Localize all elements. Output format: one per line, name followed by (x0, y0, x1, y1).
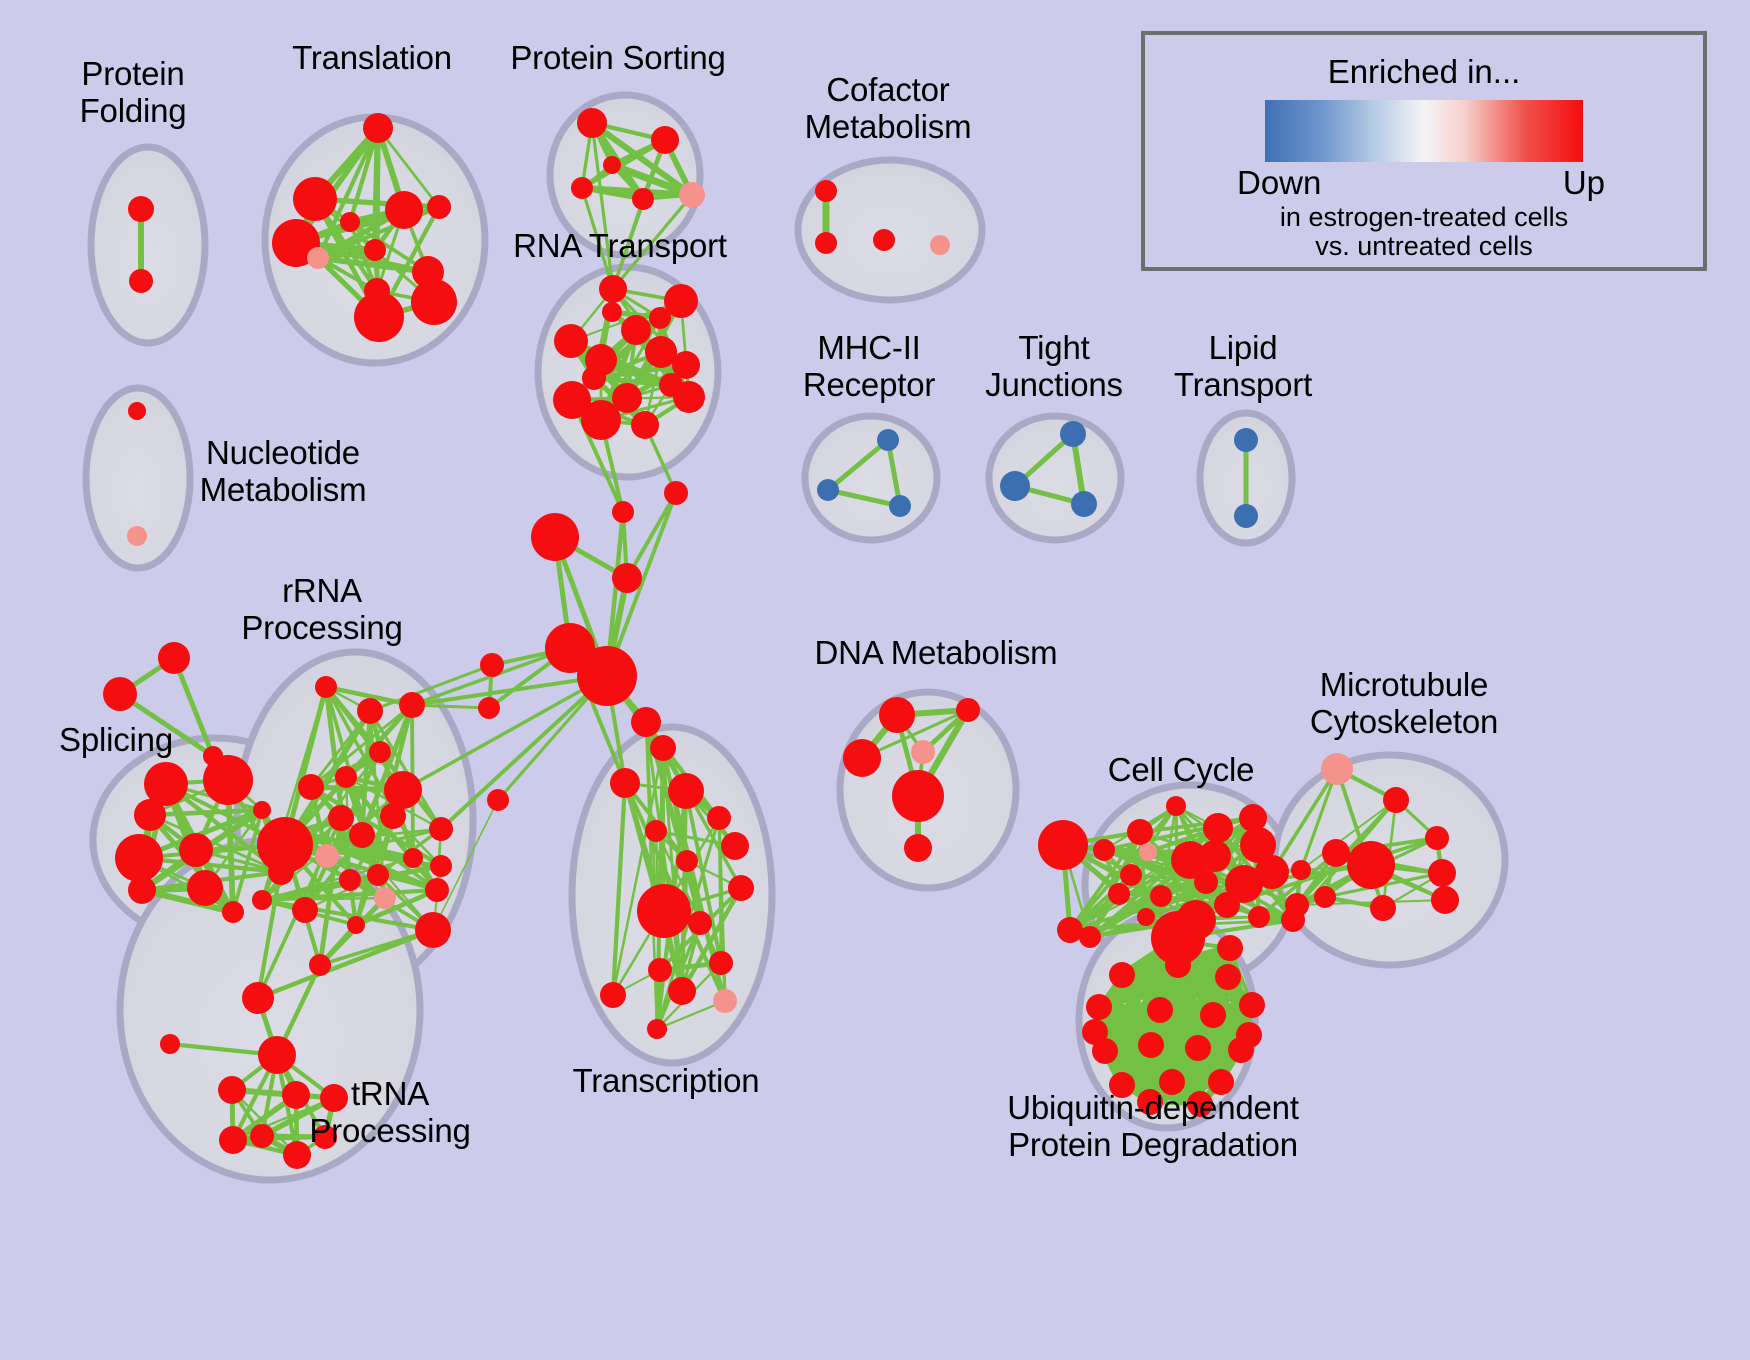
network-node[interactable] (930, 235, 950, 255)
network-node[interactable] (1428, 859, 1456, 887)
network-node[interactable] (257, 817, 313, 873)
network-node[interactable] (369, 741, 391, 763)
network-node[interactable] (1127, 819, 1153, 845)
network-node[interactable] (707, 806, 731, 830)
network-node[interactable] (347, 916, 365, 934)
network-node[interactable] (631, 411, 659, 439)
network-node[interactable] (873, 229, 895, 251)
network-node[interactable] (1185, 1035, 1211, 1061)
network-node[interactable] (1038, 820, 1088, 870)
network-node[interactable] (1000, 471, 1030, 501)
network-node[interactable] (363, 113, 393, 143)
network-node[interactable] (307, 247, 329, 269)
network-node[interactable] (612, 501, 634, 523)
network-node[interactable] (632, 188, 654, 210)
cluster-label-cofactor-metabolism: Cofactor Metabolism (805, 72, 972, 146)
network-node[interactable] (478, 697, 500, 719)
network-node[interactable] (1147, 997, 1173, 1023)
legend-end-labels: Down Up (1239, 162, 1609, 204)
network-node[interactable] (115, 834, 163, 882)
network-node[interactable] (904, 834, 932, 862)
network-node[interactable] (650, 735, 676, 761)
network-node[interactable] (293, 177, 337, 221)
network-node[interactable] (679, 182, 705, 208)
legend-box: Enriched in... Down Up in estrogen-treat… (1141, 31, 1707, 271)
network-node[interactable] (688, 911, 712, 935)
network-node[interactable] (380, 803, 406, 829)
network-node[interactable] (1370, 895, 1396, 921)
network-node[interactable] (128, 196, 154, 222)
network-node[interactable] (367, 864, 389, 886)
network-node[interactable] (1214, 892, 1240, 918)
network-node[interactable] (357, 698, 383, 724)
network-node[interactable] (1236, 1022, 1262, 1048)
network-node[interactable] (1234, 504, 1258, 528)
network-node[interactable] (349, 822, 375, 848)
network-node[interactable] (203, 755, 253, 805)
network-node[interactable] (1383, 787, 1409, 813)
network-node[interactable] (554, 324, 588, 358)
network-node[interactable] (328, 805, 354, 831)
network-node[interactable] (728, 875, 754, 901)
network-node[interactable] (1071, 491, 1097, 517)
network-node[interactable] (158, 642, 190, 674)
network-node[interactable] (480, 653, 504, 677)
network-figure: Protein FoldingTranslationProtein Sortin… (0, 0, 1750, 1360)
network-node[interactable] (298, 774, 324, 800)
network-node[interactable] (411, 279, 457, 325)
network-node[interactable] (253, 801, 271, 819)
network-node[interactable] (843, 739, 881, 777)
network-node[interactable] (1215, 964, 1241, 990)
network-node[interactable] (1159, 927, 1185, 953)
network-node[interactable] (1086, 994, 1112, 1020)
network-node[interactable] (879, 697, 915, 733)
cluster-label-cell-cycle: Cell Cycle (1108, 752, 1255, 789)
network-node[interactable] (258, 1036, 296, 1074)
cluster-label-protein-sorting: Protein Sorting (510, 40, 725, 77)
network-node[interactable] (1109, 962, 1135, 988)
network-node[interactable] (1199, 840, 1231, 872)
network-node[interactable] (222, 901, 244, 923)
network-node[interactable] (250, 1124, 274, 1148)
network-node[interactable] (335, 766, 357, 788)
network-node[interactable] (877, 429, 899, 451)
network-node[interactable] (339, 869, 361, 891)
cluster-label-nucleotide-metabolism: Nucleotide Metabolism (200, 435, 367, 509)
network-node[interactable] (815, 180, 837, 202)
network-node[interactable] (1217, 935, 1243, 961)
network-node[interactable] (612, 563, 642, 593)
network-node[interactable] (1285, 893, 1309, 917)
cluster-label-mhc-ii-receptor: MHC-II Receptor (803, 330, 935, 404)
network-node[interactable] (309, 954, 331, 976)
network-node[interactable] (134, 799, 166, 831)
network-node[interactable] (187, 870, 223, 906)
network-node[interactable] (385, 191, 423, 229)
network-node[interactable] (384, 771, 422, 809)
legend-color-bar (1265, 100, 1583, 162)
network-node[interactable] (1314, 886, 1336, 908)
network-node[interactable] (1150, 885, 1172, 907)
network-node[interactable] (430, 855, 452, 877)
network-node[interactable] (1138, 1032, 1164, 1058)
network-node[interactable] (577, 646, 637, 706)
legend-title: Enriched in... (1145, 53, 1703, 91)
network-node[interactable] (427, 195, 451, 219)
network-node[interactable] (1425, 826, 1449, 850)
network-node[interactable] (651, 126, 679, 154)
network-node[interactable] (637, 884, 691, 938)
network-node[interactable] (664, 481, 688, 505)
cluster-label-splicing: Splicing (59, 722, 173, 759)
network-node[interactable] (668, 977, 696, 1005)
network-node[interactable] (1108, 883, 1130, 905)
network-node[interactable] (242, 982, 274, 1014)
network-node[interactable] (403, 848, 423, 868)
network-node[interactable] (600, 982, 626, 1008)
cluster-label-rna-transport: RNA Transport (513, 228, 727, 265)
network-node[interactable] (1082, 1019, 1108, 1045)
network-node[interactable] (721, 832, 749, 860)
network-node[interactable] (1060, 421, 1086, 447)
network-node[interactable] (415, 912, 451, 948)
network-node[interactable] (817, 479, 839, 501)
network-node[interactable] (1120, 864, 1142, 886)
legend-up-label: Up (1563, 164, 1605, 202)
network-node[interactable] (1239, 992, 1265, 1018)
network-node[interactable] (292, 897, 318, 923)
network-node[interactable] (709, 951, 733, 975)
network-node[interactable] (571, 177, 593, 199)
network-node[interactable] (531, 513, 579, 561)
network-node[interactable] (129, 269, 153, 293)
cluster-label-lipid-transport: Lipid Transport (1174, 330, 1312, 404)
network-node[interactable] (1165, 952, 1191, 978)
network-node[interactable] (179, 833, 213, 867)
network-node[interactable] (621, 315, 651, 345)
network-node[interactable] (602, 302, 622, 322)
network-node[interactable] (283, 1141, 311, 1169)
network-node[interactable] (956, 698, 980, 722)
network-node[interactable] (425, 878, 449, 902)
cluster-ellipse-protein-folding (91, 147, 205, 343)
network-node[interactable] (631, 707, 661, 737)
cluster-label-translation: Translation (292, 40, 452, 77)
network-node[interactable] (1093, 839, 1115, 861)
network-node[interactable] (1137, 908, 1155, 926)
network-node[interactable] (577, 108, 607, 138)
network-node[interactable] (892, 770, 944, 822)
network-node[interactable] (1166, 796, 1186, 816)
network-node[interactable] (429, 817, 453, 841)
network-node[interactable] (252, 890, 272, 910)
network-node[interactable] (340, 212, 360, 232)
cluster-label-tight-junctions: Tight Junctions (985, 330, 1123, 404)
network-node[interactable] (1194, 870, 1218, 894)
network-node[interactable] (1321, 753, 1353, 785)
network-node[interactable] (659, 373, 683, 397)
network-node[interactable] (219, 1126, 247, 1154)
cluster-label-protein-folding: Protein Folding (80, 56, 187, 130)
network-node[interactable] (581, 400, 621, 440)
network-node[interactable] (676, 850, 698, 872)
network-node[interactable] (315, 676, 337, 698)
legend-subtitle-line1: in estrogen-treated cells (1145, 202, 1703, 233)
network-node[interactable] (354, 292, 404, 342)
network-node[interactable] (1139, 843, 1157, 861)
network-node[interactable] (282, 1081, 310, 1109)
network-node[interactable] (218, 1076, 246, 1104)
network-node[interactable] (911, 740, 935, 764)
network-node[interactable] (582, 366, 606, 390)
network-node[interactable] (487, 789, 509, 811)
network-node[interactable] (1203, 813, 1233, 843)
network-node[interactable] (1248, 906, 1270, 928)
network-node[interactable] (364, 239, 386, 261)
network-node[interactable] (647, 1019, 667, 1039)
network-node[interactable] (1347, 841, 1395, 889)
network-node[interactable] (648, 958, 672, 982)
cluster-label-transcription: Transcription (573, 1063, 760, 1100)
network-node[interactable] (399, 692, 425, 718)
network-node[interactable] (374, 887, 396, 909)
network-node[interactable] (1057, 917, 1083, 943)
cluster-label-microtubule-cytoskeleton: Microtubule Cytoskeleton (1310, 667, 1498, 741)
network-node[interactable] (1291, 860, 1311, 880)
network-node[interactable] (127, 526, 147, 546)
cluster-label-rrna-processing: rRNA Processing (241, 573, 402, 647)
cluster-label-dna-metabolism: DNA Metabolism (815, 635, 1058, 672)
network-node[interactable] (649, 307, 671, 329)
network-node[interactable] (599, 275, 627, 303)
cluster-label-trna-processing: tRNA Processing (309, 1076, 470, 1150)
legend-subtitle-line2: vs. untreated cells (1145, 231, 1703, 262)
network-node[interactable] (1200, 1002, 1226, 1028)
network-node[interactable] (128, 876, 156, 904)
network-node[interactable] (128, 402, 146, 420)
network-node[interactable] (603, 156, 621, 174)
network-node[interactable] (815, 232, 837, 254)
network-node[interactable] (610, 768, 640, 798)
cluster-label-ubiquitin-protein-degradation: Ubiquitin-dependent Protein Degradation (1007, 1090, 1299, 1164)
network-node[interactable] (1431, 886, 1459, 914)
network-node[interactable] (1234, 428, 1258, 452)
network-node[interactable] (103, 677, 137, 711)
network-node[interactable] (315, 844, 339, 868)
network-node[interactable] (160, 1034, 180, 1054)
network-node[interactable] (668, 773, 704, 809)
network-node[interactable] (1322, 839, 1350, 867)
legend-down-label: Down (1237, 164, 1321, 202)
network-node[interactable] (645, 820, 667, 842)
cluster-ellipse-mhc-ii-receptor (805, 416, 937, 540)
network-node[interactable] (713, 989, 737, 1013)
network-node[interactable] (889, 495, 911, 517)
